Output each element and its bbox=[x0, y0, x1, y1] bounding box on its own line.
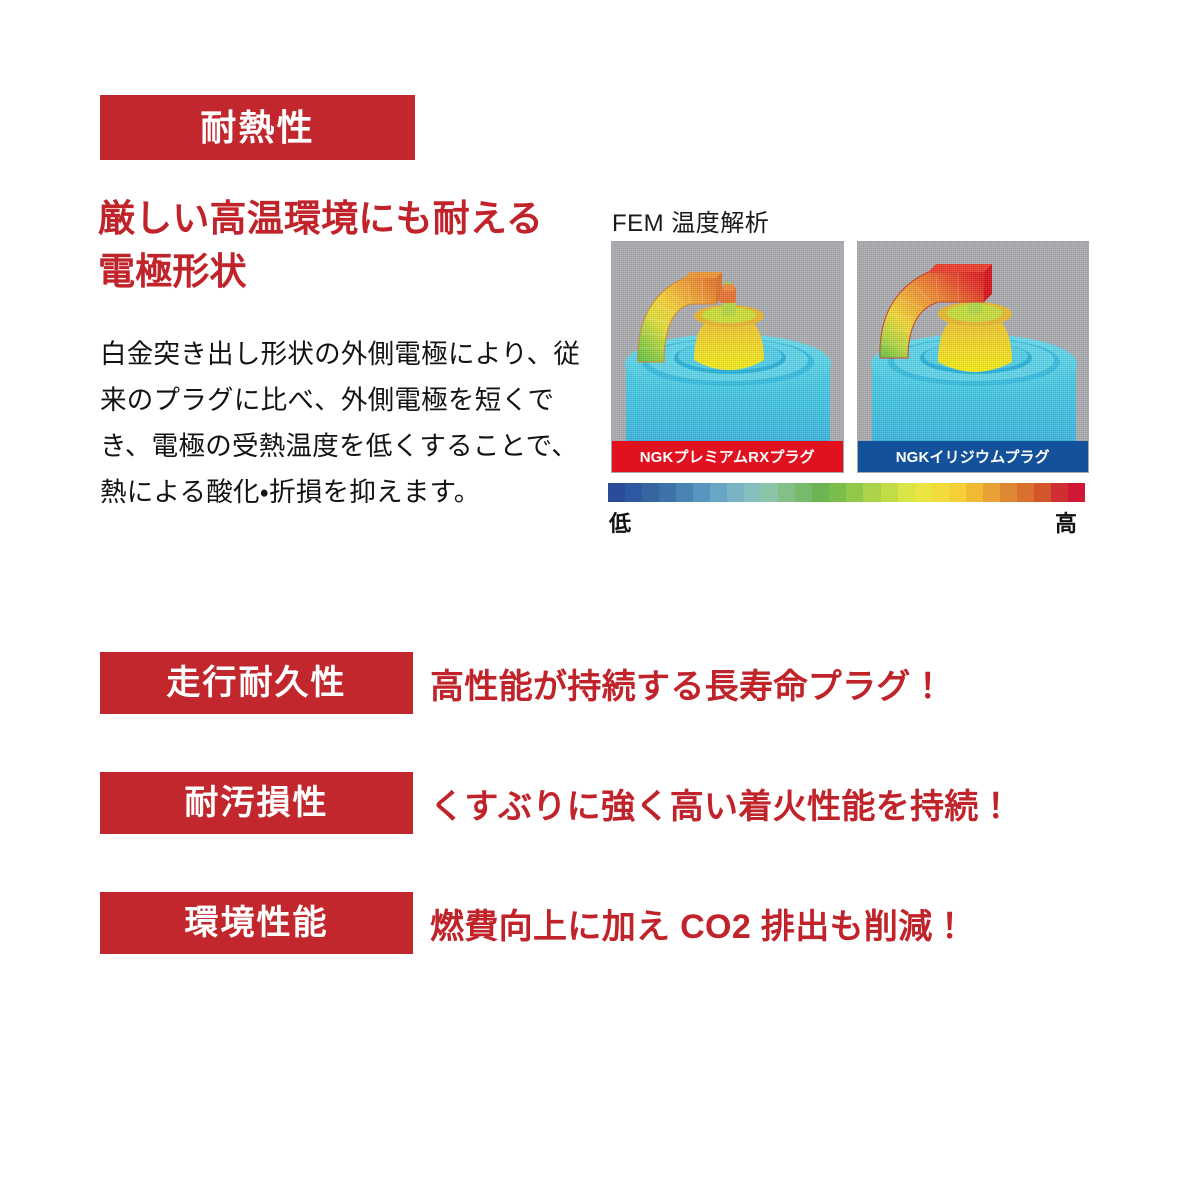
fem-caption-premium-rx: NGKプレミアムRXプラグ bbox=[612, 441, 843, 472]
temperature-scale-bar bbox=[608, 483, 1085, 502]
scale-band-10 bbox=[778, 483, 795, 502]
scale-band-7 bbox=[727, 483, 744, 502]
scale-band-17 bbox=[898, 483, 915, 502]
spark-plug-thermal-render-rx bbox=[612, 242, 844, 473]
scale-band-0 bbox=[608, 483, 625, 502]
scale-band-26 bbox=[1051, 483, 1068, 502]
scale-band-16 bbox=[881, 483, 898, 502]
feature-text-fouling: くすぶりに強く高い着火性能を持続！ bbox=[430, 772, 1013, 834]
feature-text-durability: 高性能が持続する長寿命プラグ！ bbox=[430, 652, 945, 714]
scale-band-13 bbox=[829, 483, 846, 502]
scale-band-12 bbox=[812, 483, 829, 502]
badge-environmental-performance: 環境性能 bbox=[100, 892, 413, 954]
scale-band-23 bbox=[1000, 483, 1017, 502]
scale-band-24 bbox=[1017, 483, 1034, 502]
badge-fouling-resistance: 耐汚損性 bbox=[100, 772, 413, 834]
infographic-page: 耐熱性 厳しい高温環境にも耐える 電極形状 白金突き出し形状の外側電極により、従… bbox=[0, 0, 1200, 1200]
scale-band-8 bbox=[744, 483, 761, 502]
scale-band-2 bbox=[642, 483, 659, 502]
scale-band-20 bbox=[949, 483, 966, 502]
scale-label-high: 高 bbox=[1055, 506, 1077, 538]
scale-band-11 bbox=[795, 483, 812, 502]
scale-band-1 bbox=[625, 483, 642, 502]
scale-band-22 bbox=[983, 483, 1000, 502]
scale-band-25 bbox=[1034, 483, 1051, 502]
spark-plug-thermal-render-iridium bbox=[858, 242, 1090, 473]
scale-band-18 bbox=[915, 483, 932, 502]
body-paragraph: 白金突き出し形状の外側電極により、従来のプラグに比べ、外側電極を短くでき、電極の… bbox=[100, 332, 600, 515]
fem-panel-premium-rx: NGKプレミアムRXプラグ bbox=[611, 241, 844, 473]
scale-band-14 bbox=[846, 483, 863, 502]
scale-band-6 bbox=[710, 483, 727, 502]
feature-row-environment: 環境性能 燃費向上に加え CO2 排出も削減！ bbox=[100, 892, 1080, 954]
scale-band-4 bbox=[676, 483, 693, 502]
feature-row-durability: 走行耐久性 高性能が持続する長寿命プラグ！ bbox=[100, 652, 1080, 714]
scale-band-5 bbox=[693, 483, 710, 502]
scale-band-9 bbox=[761, 483, 778, 502]
scale-label-low: 低 bbox=[609, 506, 631, 538]
scale-band-15 bbox=[863, 483, 880, 502]
fem-panel-group: NGKプレミアムRXプラグ bbox=[611, 241, 1089, 473]
scale-band-3 bbox=[659, 483, 676, 502]
feature-row-fouling: 耐汚損性 くすぶりに強く高い着火性能を持続！ bbox=[100, 772, 1080, 834]
fem-caption-iridium: NGKイリジウムプラグ bbox=[858, 441, 1089, 472]
page-headline: 厳しい高温環境にも耐える 電極形状 bbox=[98, 193, 618, 298]
scale-band-19 bbox=[932, 483, 949, 502]
fem-analysis-title: FEM 温度解析 bbox=[612, 203, 769, 238]
scale-band-21 bbox=[966, 483, 983, 502]
badge-driving-durability: 走行耐久性 bbox=[100, 652, 413, 714]
scale-band-27 bbox=[1068, 483, 1085, 502]
badge-heat-resistance: 耐熱性 bbox=[100, 95, 415, 160]
feature-text-environment: 燃費向上に加え CO2 排出も削減！ bbox=[430, 892, 967, 954]
fem-panel-iridium: NGKイリジウムプラグ bbox=[857, 241, 1090, 473]
